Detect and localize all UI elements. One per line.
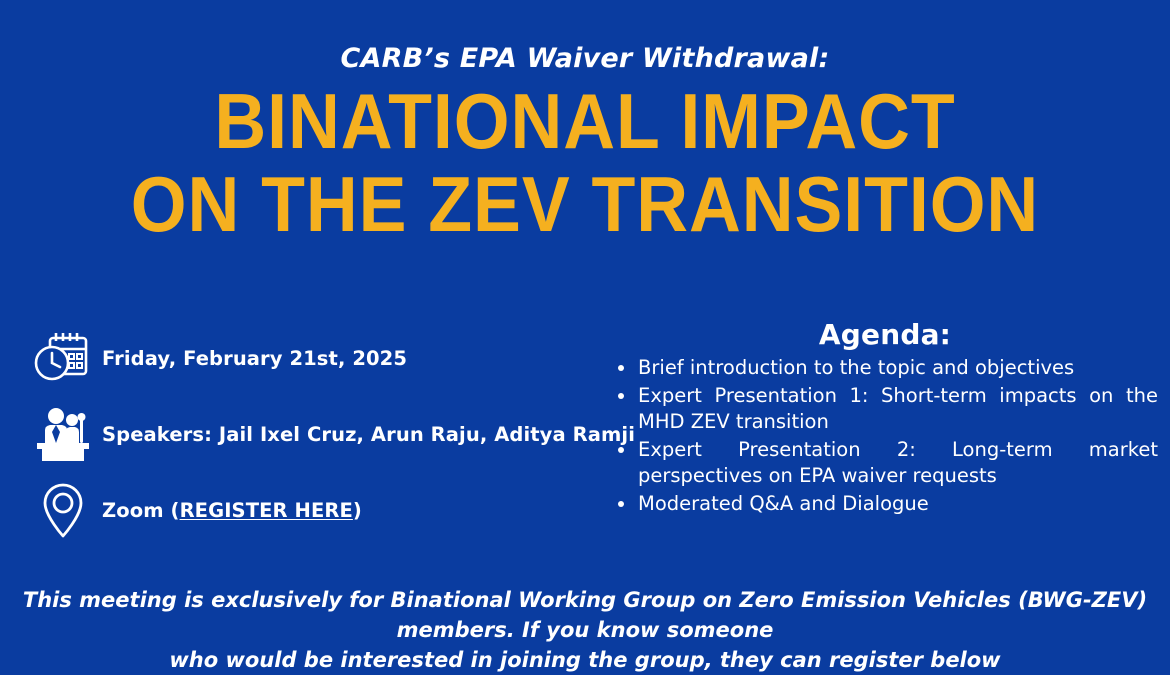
agenda-item: Expert Presentation 1: Short-term impact… (612, 383, 1158, 436)
location-prefix: Zoom ( (102, 499, 180, 522)
event-poster: CARB’s EPA Waiver Withdrawal: BINATIONAL… (0, 0, 1170, 658)
agenda-item: Brief introduction to the topic and obje… (612, 355, 1158, 382)
agenda-item-text: Brief introduction to the topic and obje… (638, 356, 1074, 379)
eyebrow-subtitle: CARB’s EPA Waiver Withdrawal: (0, 44, 1170, 74)
agenda-item-text: Expert Presentation 1: Short-term impact… (638, 384, 1158, 434)
map-pin-icon (24, 474, 102, 546)
detail-row-date: Friday, February 21st, 2025 (24, 322, 584, 394)
agenda-item: Moderated Q&A and Dialogue (612, 491, 1158, 518)
bullet-icon (618, 365, 624, 371)
calendar-clock-icon (24, 322, 102, 394)
poster-header: CARB’s EPA Waiver Withdrawal: BINATIONAL… (0, 44, 1170, 243)
poster-footer: This meeting is exclusively for Bination… (0, 586, 1170, 675)
poster-body: Friday, February 21st, 2025 (0, 318, 1170, 558)
detail-row-location: Zoom (REGISTER HERE) (24, 474, 584, 546)
title-line-2: ON THE ZEV TRANSITION (47, 167, 1123, 243)
agenda-item-text: Expert Presentation 2: Long-term market … (638, 438, 1158, 488)
register-here-link[interactable]: REGISTER HERE (180, 499, 353, 522)
footer-line-1: This meeting is exclusively for Bination… (0, 586, 1170, 646)
bullet-icon (618, 447, 624, 453)
location-suffix: ) (353, 499, 362, 522)
agenda-heading: Agenda: (612, 318, 1158, 351)
bullet-icon (618, 501, 624, 507)
location-text: Zoom (REGISTER HERE) (102, 499, 362, 522)
footer-line-2: who would be interested in joining the g… (0, 646, 1170, 675)
agenda-list: Brief introduction to the topic and obje… (612, 355, 1158, 517)
poster-title: BINATIONAL IMPACT ON THE ZEV TRANSITION (0, 84, 1170, 243)
podium-speakers-icon (24, 398, 102, 470)
title-line-1: BINATIONAL IMPACT (47, 84, 1123, 160)
bullet-icon (618, 393, 624, 399)
agenda-item-text: Moderated Q&A and Dialogue (638, 492, 929, 515)
agenda-section: Agenda: Brief introduction to the topic … (612, 318, 1158, 518)
speakers-text: Speakers: Jail Ixel Cruz, Arun Raju, Adi… (102, 423, 635, 446)
detail-row-speakers: Speakers: Jail Ixel Cruz, Arun Raju, Adi… (24, 398, 584, 470)
event-details-list: Friday, February 21st, 2025 (24, 322, 584, 550)
event-date-text: Friday, February 21st, 2025 (102, 347, 407, 370)
agenda-item: Expert Presentation 2: Long-term market … (612, 437, 1158, 490)
